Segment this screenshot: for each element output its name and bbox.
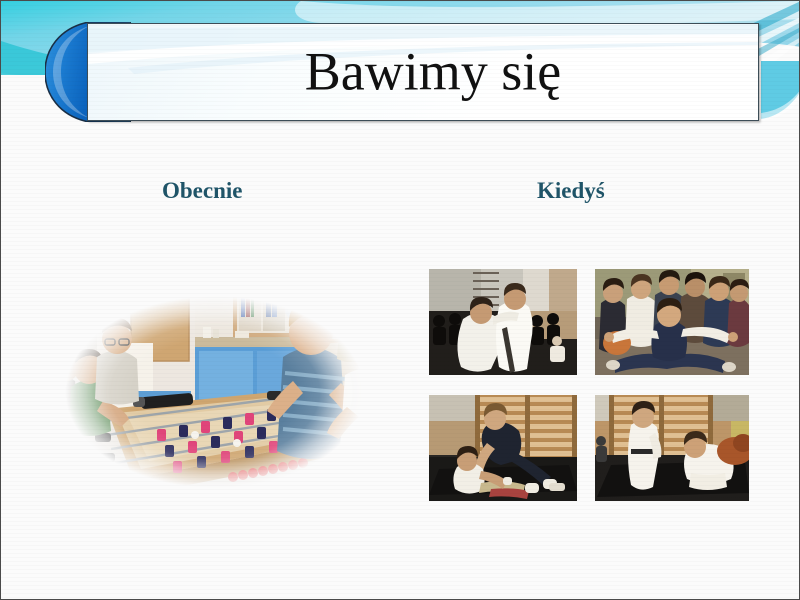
slide-title-box: Bawimy się [87, 23, 759, 121]
photo-gym-leapfrog [429, 395, 577, 501]
photo-grid-kiedys [429, 269, 749, 501]
photo-judo-throw [429, 269, 577, 375]
photo-foosball-children [45, 283, 385, 501]
presentation-slide: Bawimy się Obecnie Kiedyś [0, 0, 800, 600]
banner-right-accent [761, 61, 800, 123]
page-title: Bawimy się [88, 44, 758, 101]
photo-group-splits [595, 269, 749, 375]
photo-judo-mat [595, 395, 749, 501]
column-label-kiedys: Kiedyś [537, 178, 605, 204]
column-label-obecnie: Obecnie [162, 178, 243, 204]
